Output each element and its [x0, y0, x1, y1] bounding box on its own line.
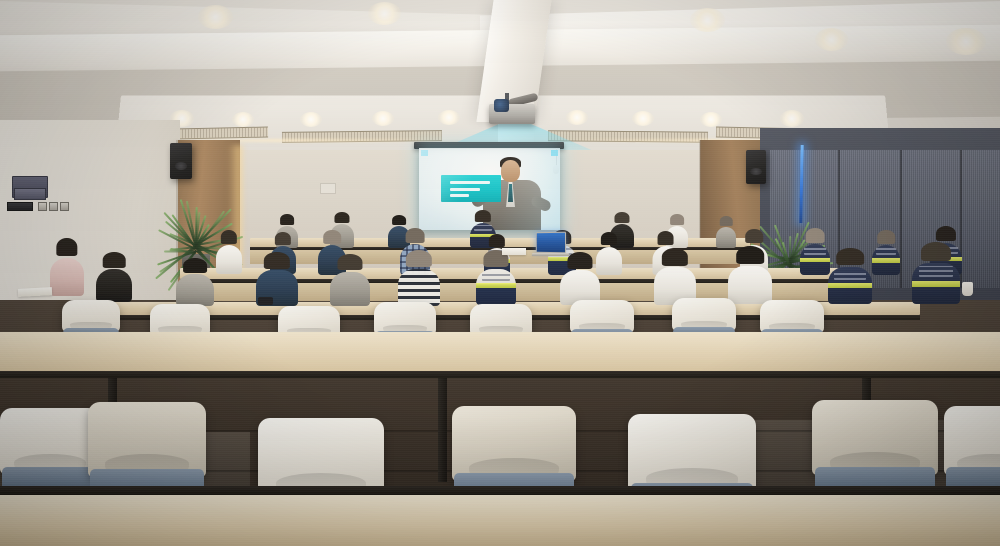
- wall-outlet: [320, 183, 336, 194]
- attendee: [476, 250, 516, 305]
- downlight-2: [368, 2, 401, 25]
- attendee-hair: [103, 252, 126, 268]
- attendee: [912, 242, 960, 304]
- wall-control-panel-lower[interactable]: [14, 188, 46, 200]
- blind-seam-2: [900, 150, 902, 288]
- attendee-hair: [475, 210, 491, 222]
- chair-backrest: [62, 300, 120, 332]
- attendee-hair: [601, 232, 617, 245]
- attendee: [96, 252, 132, 302]
- presenter-laptop-screen[interactable]: [536, 232, 566, 254]
- attendee-hair: [745, 229, 763, 243]
- attendee-hair: [836, 248, 864, 265]
- downlight-3: [690, 8, 725, 32]
- attendee: [716, 216, 736, 248]
- attendee-hair: [662, 248, 688, 266]
- desk-row-5: [0, 495, 1000, 546]
- attendee-hair: [334, 212, 349, 223]
- attendee-torso: [476, 269, 516, 305]
- light-switch-group[interactable]: [8, 202, 52, 211]
- lower-third-line-3: [450, 194, 469, 197]
- attendee-hair: [877, 230, 895, 244]
- desk-row-4: [0, 332, 1000, 372]
- attendee-torso: [800, 244, 830, 275]
- downlight-7: [232, 112, 254, 127]
- chair-backrest: [0, 408, 100, 474]
- attendee: [176, 258, 214, 306]
- attendee-hair: [406, 228, 425, 243]
- phone-on-desk[interactable]: [258, 297, 273, 305]
- attendee-hair: [337, 254, 362, 270]
- attendee-hair: [614, 212, 629, 223]
- attendee: [800, 228, 830, 275]
- attendee-hair: [720, 216, 733, 226]
- downlight-11: [566, 110, 588, 125]
- chair-backrest: [470, 304, 532, 336]
- uniform-back-text: [876, 248, 896, 256]
- attendee-torso: [872, 245, 900, 275]
- attendee-hair: [806, 228, 825, 243]
- lower-third-line-2: [450, 188, 480, 191]
- attendee-hair: [670, 214, 684, 225]
- uniform-back-text: [804, 246, 826, 254]
- chair-backrest: [760, 300, 824, 333]
- lower-third-line-1: [450, 181, 490, 184]
- chair-backrest: [452, 406, 576, 481]
- attendee-torso: [50, 258, 84, 296]
- attendee-hair: [736, 246, 764, 264]
- chair-backrest: [628, 414, 756, 492]
- attendee-hair: [280, 214, 294, 225]
- attendee-hair: [275, 232, 291, 245]
- attendee-torso: [96, 269, 132, 302]
- light-switch-1[interactable]: [38, 202, 47, 211]
- downlight-9: [372, 111, 394, 126]
- chair-backrest: [944, 406, 1000, 475]
- downlight-8: [300, 112, 322, 127]
- attendee-hair: [183, 258, 207, 273]
- chair-backrest: [570, 300, 634, 333]
- downlight-12: [632, 111, 654, 126]
- uniform-back-text: [482, 272, 511, 281]
- desk-row-4-leg-2: [438, 378, 447, 482]
- striped-shirt: [398, 269, 440, 306]
- attendee-hair: [264, 252, 290, 269]
- attendee: [728, 246, 772, 304]
- wall-speaker-right: [746, 150, 766, 184]
- uniform-back-text: [474, 225, 493, 232]
- attendee-torso: [828, 267, 872, 304]
- attendee-hair: [921, 242, 951, 261]
- attendee: [560, 252, 600, 305]
- hiviz-reflective-stripe: [800, 258, 830, 262]
- attendee: [654, 248, 696, 305]
- hiviz-reflective-stripe: [872, 258, 900, 262]
- attendee-hair: [657, 231, 674, 245]
- attendee-torso: [216, 245, 242, 274]
- attendee-hair: [406, 250, 432, 267]
- video-presenter-head: [501, 160, 520, 182]
- chair-backrest: [374, 302, 436, 335]
- attendee-torso: [912, 263, 960, 304]
- downlight-10: [438, 110, 460, 125]
- attendee-hair: [323, 230, 341, 244]
- desk-row-4-edge: [0, 371, 1000, 378]
- downlight-5: [946, 28, 986, 55]
- attendee-torso: [398, 269, 440, 306]
- attendee: [330, 254, 370, 306]
- attendee: [398, 250, 440, 306]
- attendee-torso: [176, 274, 214, 306]
- cup-on-desk: [962, 282, 973, 296]
- paper-stack-front: [502, 248, 526, 255]
- attendee-torso: [330, 272, 370, 306]
- downlight-1: [198, 5, 233, 29]
- video-lower-third-banner: [441, 175, 501, 202]
- uniform-back-text: [834, 270, 866, 280]
- presenter-laptop-base[interactable]: [532, 253, 570, 256]
- chair-backrest: [812, 400, 938, 475]
- projector-lens-icon: [494, 99, 509, 112]
- chair-backrest: [672, 298, 736, 331]
- training-room-photo: [0, 0, 1000, 546]
- chair-backrest: [150, 304, 210, 336]
- hiviz-reflective-stripe: [912, 281, 960, 287]
- attendee-hair: [56, 238, 77, 256]
- uniform-back-text: [919, 266, 954, 277]
- attendee: [216, 230, 242, 274]
- attendee-torso: [716, 227, 736, 248]
- downlight-4: [815, 28, 848, 51]
- light-switch-2[interactable]: [49, 202, 58, 211]
- attendee-hair: [221, 230, 237, 244]
- hiviz-reflective-stripe: [476, 283, 516, 288]
- chair-backrest: [88, 402, 206, 477]
- attendee-hair: [936, 226, 956, 241]
- attendee-hair: [489, 234, 505, 247]
- downlight-14: [780, 110, 804, 127]
- hiviz-reflective-stripe: [828, 283, 872, 288]
- screen-corner-right: [551, 150, 558, 156]
- attendee: [50, 238, 84, 296]
- screen-corner-left: [421, 150, 428, 156]
- attendee-hair: [567, 252, 592, 269]
- attendee: [872, 230, 900, 275]
- attendee-hair: [392, 215, 406, 225]
- downlight-13: [700, 112, 722, 127]
- attendee: [828, 248, 872, 304]
- light-switch-3[interactable]: [60, 202, 69, 211]
